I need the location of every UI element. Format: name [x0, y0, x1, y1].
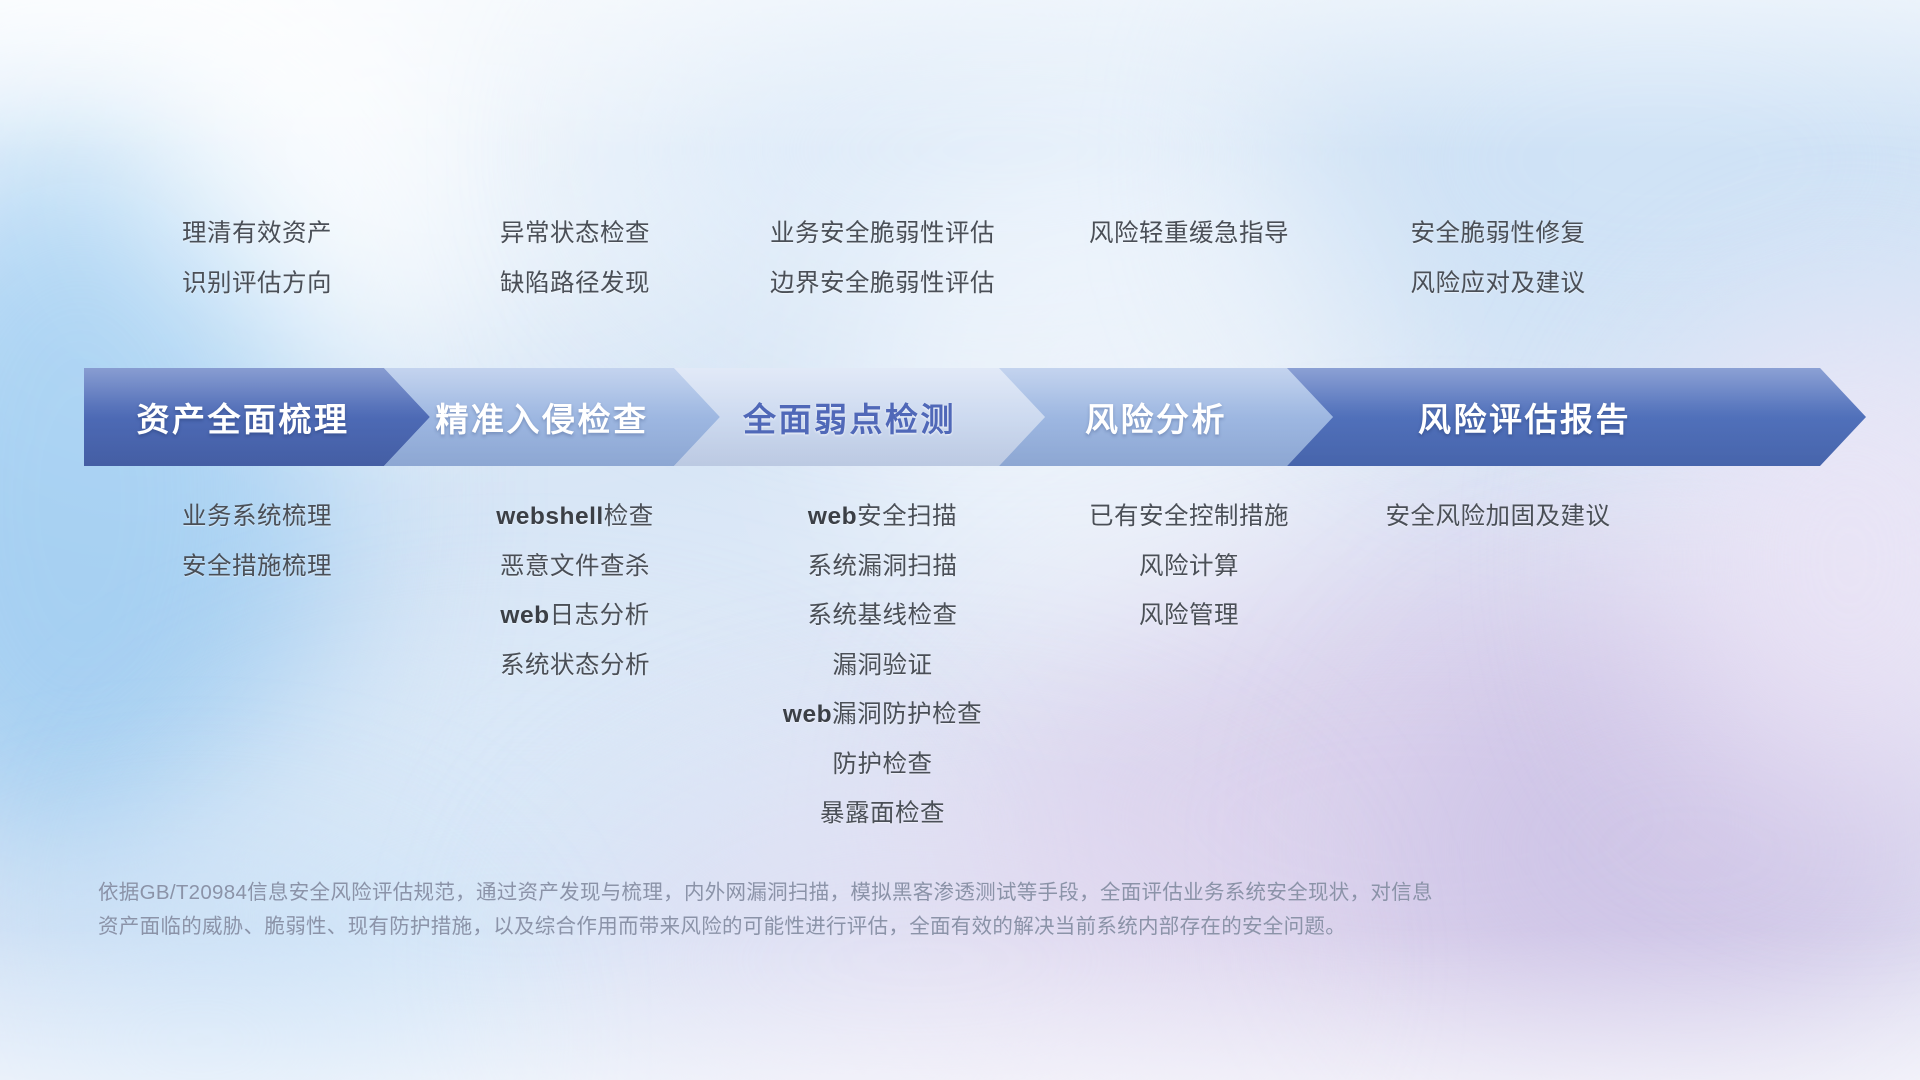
top-items-stage-3: 业务安全脆弱性评估边界安全脆弱性评估: [720, 222, 1045, 321]
stage-chevron-label-1: 资产全面梳理: [137, 393, 350, 441]
stage-5-bottom-item: 安全风险加固及建议: [1386, 505, 1611, 530]
stage-chevron-label-5: 风险评估报告: [1418, 393, 1631, 441]
stage-chevron-banner: 资产全面梳理精准入侵检查全面弱点检测风险分析风险评估报告: [84, 368, 1866, 466]
stage-chevron-label-4: 风险分析: [1085, 393, 1227, 441]
stage-chevron-3[interactable]: 全面弱点检测: [674, 368, 1045, 466]
stage-1-top-item: 理清有效资产: [182, 222, 332, 247]
stage-5-top-item: 风险应对及建议: [1411, 272, 1586, 297]
stage-3-bottom-item: web安全扫描: [808, 505, 957, 530]
stage-3-bottom-item: 防护检查: [833, 753, 933, 778]
top-items-row: 理清有效资产识别评估方向 异常状态检查缺陷路径发现 业务安全脆弱性评估边界安全脆…: [0, 222, 1920, 321]
stage-4-bottom-item: 风险管理: [1139, 604, 1239, 629]
stage-3-bottom-item: 暴露面检查: [820, 802, 945, 827]
process-diagram: 理清有效资产识别评估方向 异常状态检查缺陷路径发现 业务安全脆弱性评估边界安全脆…: [0, 0, 1920, 1080]
stage-4-bottom-item: 风险计算: [1139, 555, 1239, 580]
bottom-items-stage-3: web安全扫描系统漏洞扫描系统基线检查漏洞验证web漏洞防护检查防护检查暴露面检…: [720, 505, 1045, 852]
bottom-items-stage-1: 业务系统梳理安全措施梳理: [84, 505, 430, 852]
stage-chevron-1[interactable]: 资产全面梳理: [84, 368, 430, 466]
stage-4-bottom-item: 已有安全控制措施: [1089, 505, 1289, 530]
stage-1-bottom-item: 业务系统梳理: [182, 505, 332, 530]
stage-chevron-2[interactable]: 精准入侵检查: [384, 368, 720, 466]
stage-3-top-item: 边界安全脆弱性评估: [770, 272, 995, 297]
stage-2-bottom-item: 恶意文件查杀: [500, 555, 650, 580]
stage-2-bottom-item: web日志分析: [500, 604, 649, 629]
stage-2-bottom-item: webshell检查: [496, 505, 653, 530]
stage-3-bottom-item: 漏洞验证: [833, 654, 933, 679]
stage-1-top-item: 识别评估方向: [182, 272, 332, 297]
top-items-stage-5: 安全脆弱性修复风险应对及建议: [1333, 222, 1663, 321]
stage-chevron-label-3: 全面弱点检测: [743, 393, 956, 441]
bottom-items-stage-4: 已有安全控制措施风险计算风险管理: [1045, 505, 1333, 852]
stage-3-top-item: 业务安全脆弱性评估: [770, 222, 995, 247]
stage-4-top-item: 风险轻重缓急指导: [1089, 222, 1289, 247]
bottom-items-stage-2: webshell检查恶意文件查杀web日志分析系统状态分析: [430, 505, 720, 852]
footer-description: 依据GB/T20984信息安全风险评估规范，通过资产发现与梳理，内外网漏洞扫描，…: [98, 876, 1658, 944]
stage-2-bottom-item: 系统状态分析: [500, 654, 650, 679]
stage-3-bottom-item: 系统漏洞扫描: [808, 555, 958, 580]
bottom-items-stage-5: 安全风险加固及建议: [1333, 505, 1663, 852]
top-items-stage-2: 异常状态检查缺陷路径发现: [430, 222, 720, 321]
footer-line-2: 资产面临的威胁、脆弱性、现有防护措施，以及综合作用而带来风险的可能性进行评估，全…: [98, 910, 1658, 944]
stage-chevron-label-2: 精准入侵检查: [436, 393, 649, 441]
stage-3-bottom-item: 系统基线检查: [808, 604, 958, 629]
stage-5-top-item: 安全脆弱性修复: [1411, 222, 1586, 247]
stage-chevron-5[interactable]: 风险评估报告: [1287, 368, 1866, 466]
top-items-stage-4: 风险轻重缓急指导: [1045, 222, 1333, 321]
footer-line-1: 依据GB/T20984信息安全风险评估规范，通过资产发现与梳理，内外网漏洞扫描，…: [98, 876, 1658, 910]
bottom-items-row: 业务系统梳理安全措施梳理 webshell检查恶意文件查杀web日志分析系统状态…: [0, 505, 1920, 852]
stage-chevron-4[interactable]: 风险分析: [999, 368, 1333, 466]
top-items-stage-1: 理清有效资产识别评估方向: [84, 222, 430, 321]
stage-2-top-item: 缺陷路径发现: [500, 272, 650, 297]
stage-1-bottom-item: 安全措施梳理: [182, 555, 332, 580]
stage-3-bottom-item: web漏洞防护检查: [783, 703, 982, 728]
stage-2-top-item: 异常状态检查: [500, 222, 650, 247]
